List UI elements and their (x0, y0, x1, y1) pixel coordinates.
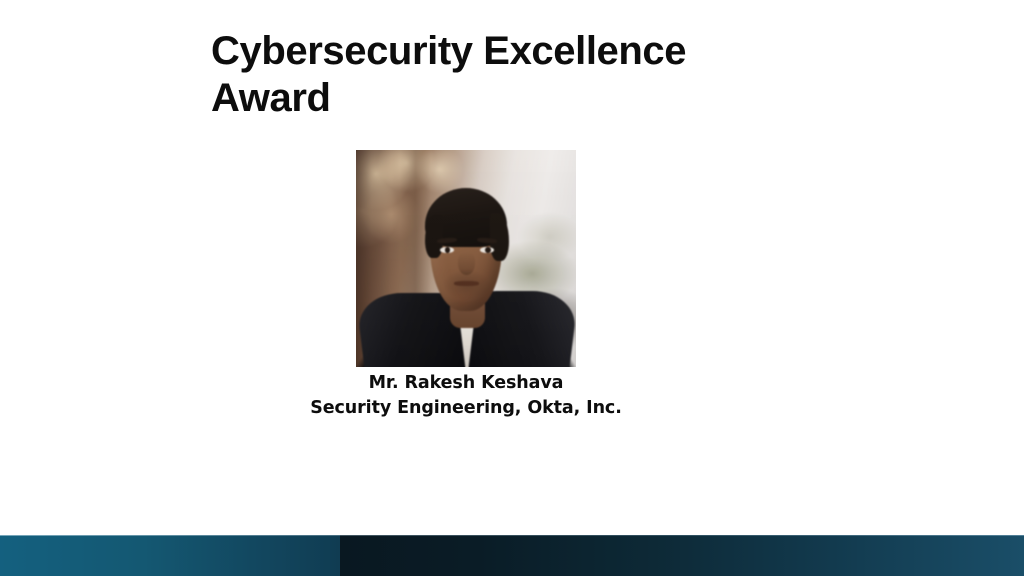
photo-caption: Mr. Rakesh Keshava Security Engineering,… (166, 371, 766, 421)
footer-bar-segment-left (0, 535, 340, 576)
photo-subject (356, 150, 576, 367)
footer-bar-highlight-line (0, 535, 1024, 536)
page-title: Cybersecurity Excellence Award (211, 28, 811, 122)
portrait-photo (356, 150, 576, 367)
caption-affiliation: Security Engineering, Okta, Inc. (166, 396, 766, 421)
slide-footer-bar (0, 535, 1024, 576)
subject-hair-side-left (425, 215, 443, 258)
subject-nose (458, 252, 475, 275)
photo-with-caption-block (356, 150, 576, 367)
footer-bar-segment-right (340, 535, 1024, 576)
presentation-slide: Cybersecurity Excellence Award (0, 0, 1024, 576)
subject-mouth (454, 281, 479, 286)
caption-name: Mr. Rakesh Keshava (166, 371, 766, 396)
